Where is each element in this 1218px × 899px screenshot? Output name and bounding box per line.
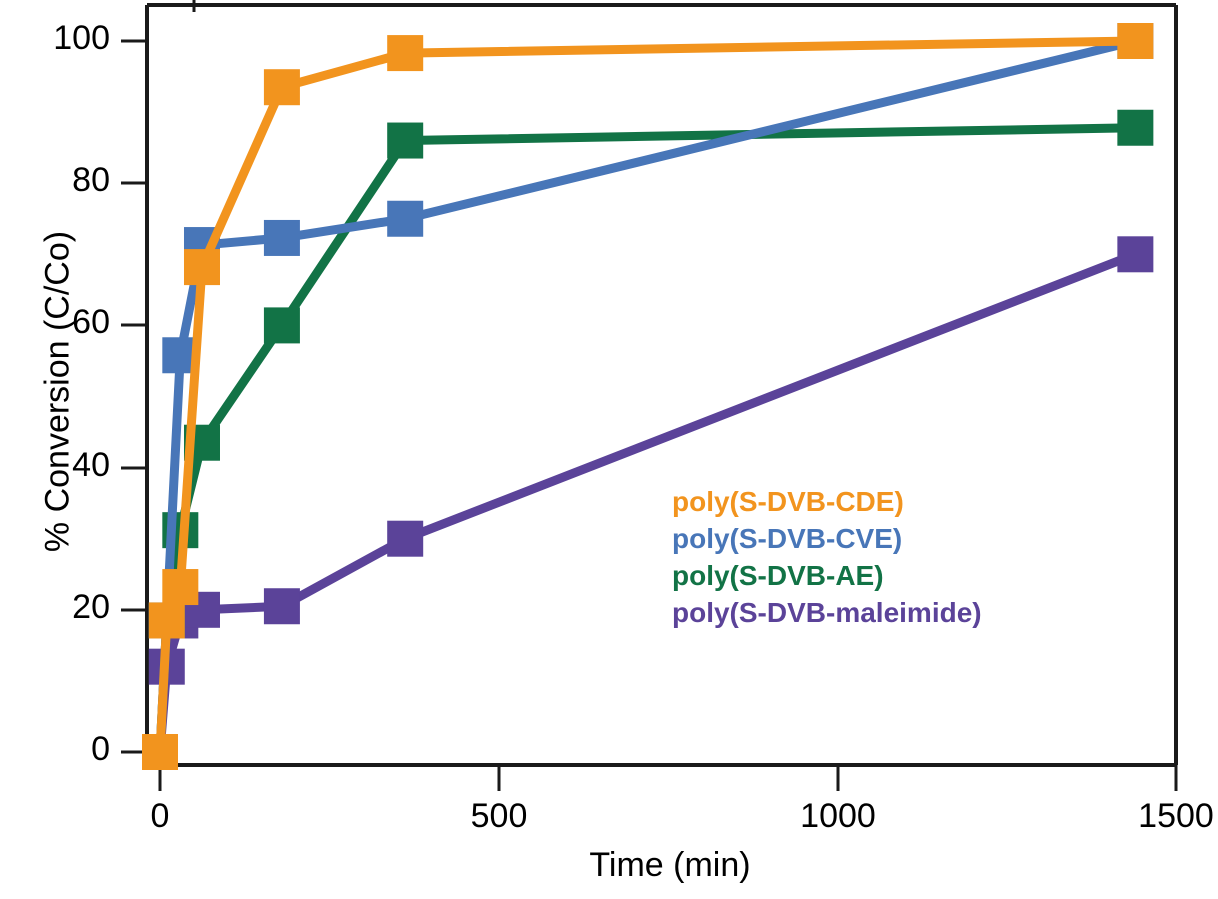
legend-label-cve: poly(S-DVB-CVE) [672,523,902,554]
x-tick-label-500: 500 [419,797,579,836]
data-point-marker [142,734,178,770]
series-layer [142,23,1153,770]
data-point-marker [1117,236,1153,272]
data-point-marker [387,123,423,159]
legend-entry-cve: poly(S-DVB-CVE) [672,521,982,558]
y-axis-ticks [121,41,147,752]
x-tick-label-1500: 1500 [1096,797,1218,836]
legend: poly(S-DVB-CDE) poly(S-DVB-CVE) poly(S-D… [672,484,982,632]
data-point-marker [264,307,300,343]
data-point-marker [1117,23,1153,59]
data-point-marker [387,35,423,71]
y-tick-label-0: 0 [0,730,110,769]
plot-area [0,0,1218,899]
data-point-marker [387,201,423,237]
y-tick-label-100: 100 [0,19,110,58]
y-axis-title: % Conversion (C/Co) [39,182,78,602]
data-point-marker [387,521,423,557]
legend-label-maleimide: poly(S-DVB-maleimide) [672,597,982,628]
x-axis-ticks [160,0,1176,791]
x-tick-label-0: 0 [80,797,240,836]
data-point-marker [264,588,300,624]
data-point-marker [264,69,300,105]
data-point-marker [184,249,220,285]
legend-entry-ae: poly(S-DVB-AE) [672,558,982,595]
chart-figure: 100 80 60 40 20 0 0 500 1000 1500 % Conv… [0,0,1218,899]
legend-label-cde: poly(S-DVB-CDE) [672,486,904,517]
data-point-marker [149,602,185,638]
x-axis-title: Time (min) [420,846,920,885]
data-point-marker [1117,110,1153,146]
legend-entry-maleimide: poly(S-DVB-maleimide) [672,595,982,632]
axis-frame [147,5,1176,765]
data-point-marker [264,220,300,256]
legend-label-ae: poly(S-DVB-AE) [672,560,884,591]
x-tick-label-1000: 1000 [758,797,918,836]
data-point-marker [162,569,198,605]
legend-entry-cde: poly(S-DVB-CDE) [672,484,982,521]
